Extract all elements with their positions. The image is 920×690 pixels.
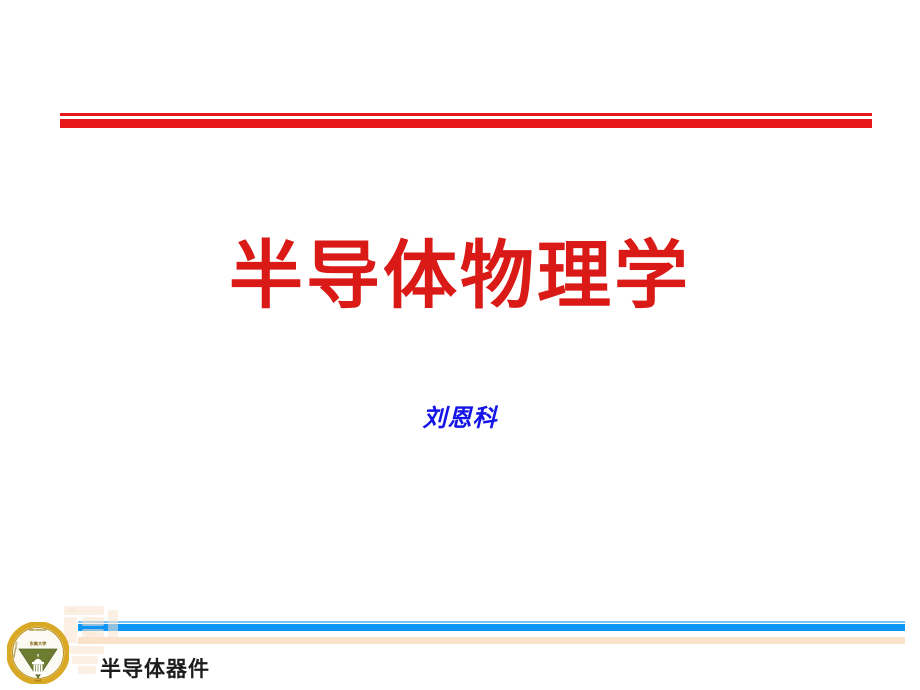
page-title: 半导体物理学 (229, 238, 691, 316)
top-divider-thick-line (60, 119, 872, 128)
presentation-slide: 半导体物理学 刘恩科 (0, 0, 920, 690)
author-name: 刘恩科 (423, 398, 498, 433)
footer-light-blue-rule (78, 621, 905, 623)
svg-text:1902: 1902 (34, 678, 41, 682)
footer-blue-rule (78, 624, 905, 631)
author-container: 刘恩科 (0, 398, 920, 433)
title-container: 半导体物理学 (0, 238, 920, 316)
southeast-university-logo: 东南大学 SOUTHEAST 1902 UNIVERSITY (7, 622, 69, 684)
footer-caption: 半导体器件 (100, 653, 210, 683)
footer-peach-rule (78, 637, 905, 644)
svg-text:东南大学: 东南大学 (30, 640, 48, 647)
svg-text:SOUTHEAST: SOUTHEAST (29, 628, 47, 632)
